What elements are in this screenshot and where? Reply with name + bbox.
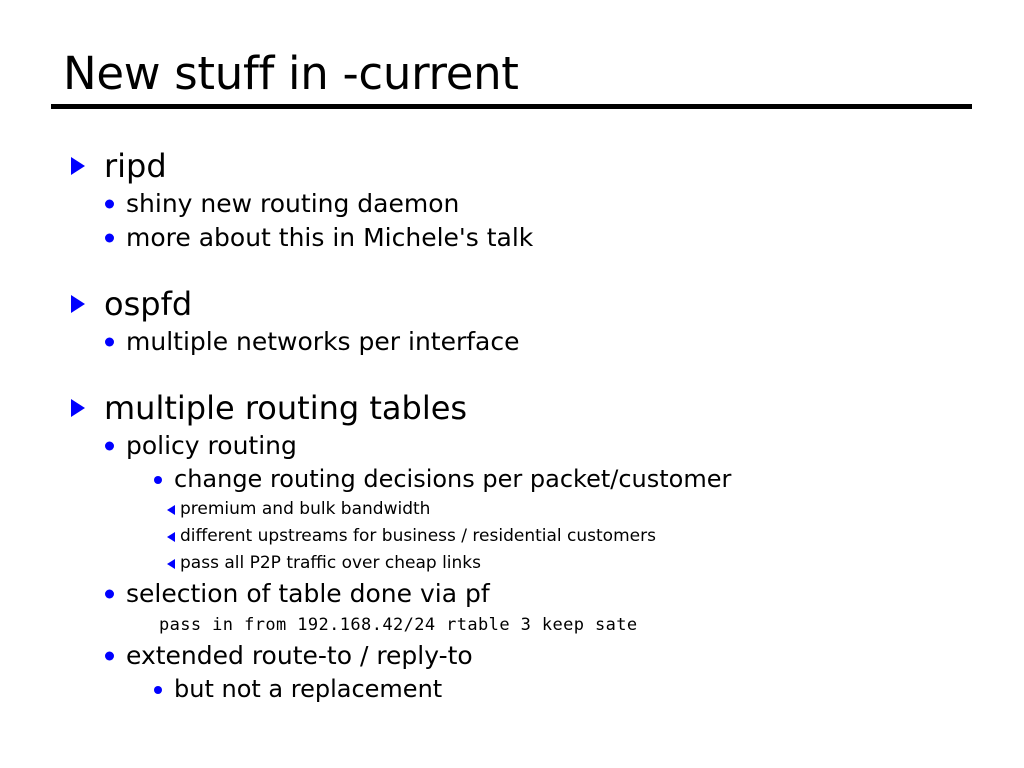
section-spacer — [63, 255, 1003, 283]
right-triangle-bullet-icon — [71, 157, 85, 175]
bullet-level4-premium-and-bulk-bandwidth: premium and bulk bandwidth — [63, 496, 1003, 523]
page-title: New stuff in -current — [51, 48, 972, 100]
round-bullet-icon — [105, 200, 114, 209]
section-ospfd: ospfd multiple networks per interface — [63, 283, 1003, 359]
bullet-text: multiple routing tables — [104, 389, 467, 427]
bullet-level4-different-upstreams: different upstreams for business / resid… — [63, 523, 1003, 550]
bullet-level4-pass-p2p-traffic: pass all P2P traffic over cheap links — [63, 550, 1003, 577]
title-divider — [51, 104, 972, 109]
bullet-level2-shiny-new-routing-daemon: shiny new routing daemon — [63, 187, 1003, 221]
bullet-text: ospfd — [104, 285, 192, 323]
round-bullet-icon — [105, 338, 114, 347]
round-bullet-icon — [105, 234, 114, 243]
bullet-level1-ospfd: ospfd — [63, 283, 1003, 325]
round-bullet-icon — [105, 590, 114, 599]
bullet-text: ripd — [104, 147, 167, 185]
bullet-level3-change-routing-decisions: change routing decisions per packet/cust… — [63, 463, 1003, 496]
left-triangle-bullet-icon — [167, 532, 175, 542]
bullet-text: shiny new routing daemon — [126, 189, 459, 218]
pf-rule-code-line: pass in from 192.168.42/24 rtable 3 keep… — [63, 611, 1003, 639]
section-ripd: ripd shiny new routing daemon more about… — [63, 145, 1003, 255]
bullet-text: change routing decisions per packet/cust… — [174, 465, 731, 493]
bullet-text: extended route-to / reply-to — [126, 641, 473, 670]
round-bullet-icon — [154, 686, 162, 694]
bullet-level2-micheles-talk: more about this in Michele's talk — [63, 221, 1003, 255]
left-triangle-bullet-icon — [167, 505, 175, 515]
round-bullet-icon — [105, 442, 114, 451]
bullet-level1-ripd: ripd — [63, 145, 1003, 187]
bullet-level1-multiple-routing-tables: multiple routing tables — [63, 387, 1003, 429]
bullet-level2-extended-route-to-reply-to: extended route-to / reply-to — [63, 639, 1003, 673]
slide-header: New stuff in -current — [51, 48, 972, 109]
bullet-text: selection of table done via pf — [126, 579, 490, 608]
bullet-level2-selection-of-table-done-via-pf: selection of table done via pf — [63, 577, 1003, 611]
bullet-text: more about this in Michele's talk — [126, 223, 533, 252]
round-bullet-icon — [154, 476, 162, 484]
right-triangle-bullet-icon — [71, 399, 85, 417]
section-spacer — [63, 359, 1003, 387]
presentation-slide: New stuff in -current ripd shiny new rou… — [0, 0, 1024, 768]
bullet-text: different upstreams for business / resid… — [180, 526, 656, 546]
round-bullet-icon — [105, 652, 114, 661]
bullet-text: premium and bulk bandwidth — [180, 499, 430, 519]
slide-body: ripd shiny new routing daemon more about… — [63, 145, 1003, 706]
section-multiple-routing-tables: multiple routing tables policy routing c… — [63, 387, 1003, 706]
bullet-text: multiple networks per interface — [126, 327, 520, 356]
bullet-level3-but-not-a-replacement: but not a replacement — [63, 673, 1003, 706]
left-triangle-bullet-icon — [167, 559, 175, 569]
bullet-level2-multiple-networks-per-interface: multiple networks per interface — [63, 325, 1003, 359]
bullet-text: policy routing — [126, 431, 297, 460]
bullet-text: pass all P2P traffic over cheap links — [180, 553, 481, 573]
bullet-text: but not a replacement — [174, 675, 442, 703]
right-triangle-bullet-icon — [71, 295, 85, 313]
bullet-level2-policy-routing: policy routing — [63, 429, 1003, 463]
